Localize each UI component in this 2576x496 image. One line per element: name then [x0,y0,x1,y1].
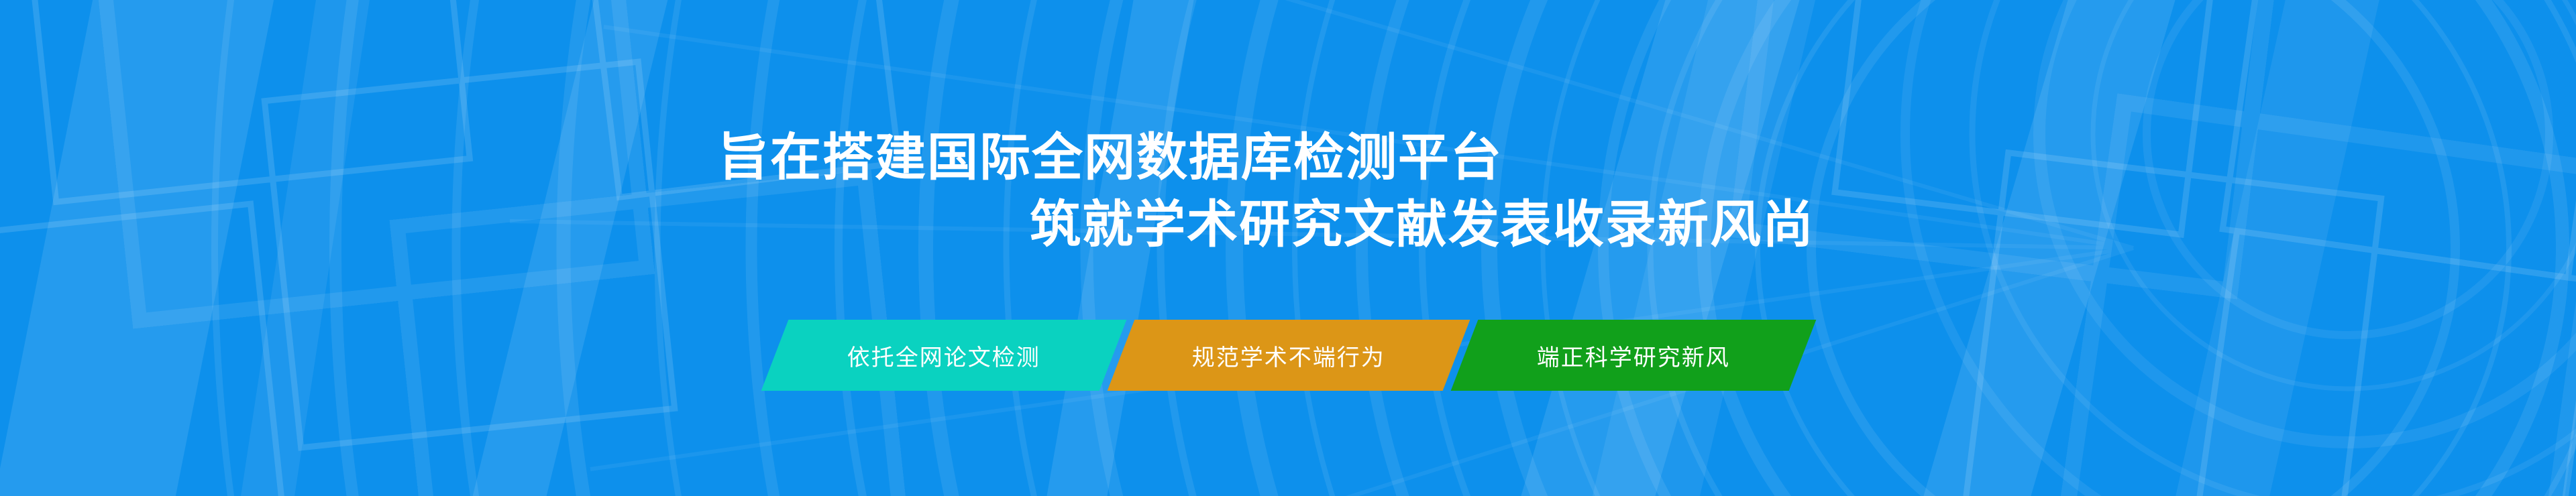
ribbon-label-0: 依托全网论文检测 [847,339,1040,372]
ribbon-badge-research-integrity[interactable]: 端正科学研究新风 [1451,320,1817,391]
ribbon-label-1: 规范学术不端行为 [1192,339,1385,372]
ribbon-badge-plagiarism-detection[interactable]: 依托全网论文检测 [761,320,1127,391]
ribbon-badge-academic-misconduct[interactable]: 规范学术不端行为 [1108,320,1470,391]
headline-line-1: 旨在搭建国际全网数据库检测平台 [0,125,1851,192]
ribbon-badge-row: 依托全网论文检测 规范学术不端行为 端正科学研究新风 [775,320,1803,391]
hero-banner: 旨在搭建国际全网数据库检测平台 筑就学术研究文献发表收录新风尚 依托全网论文检测… [0,0,2576,496]
ribbon-label-2: 端正科学研究新风 [1537,339,1730,372]
headline-block: 旨在搭建国际全网数据库检测平台 筑就学术研究文献发表收录新风尚 [0,125,1851,259]
headline-line-2: 筑就学术研究文献发表收录新风尚 [0,192,1851,259]
